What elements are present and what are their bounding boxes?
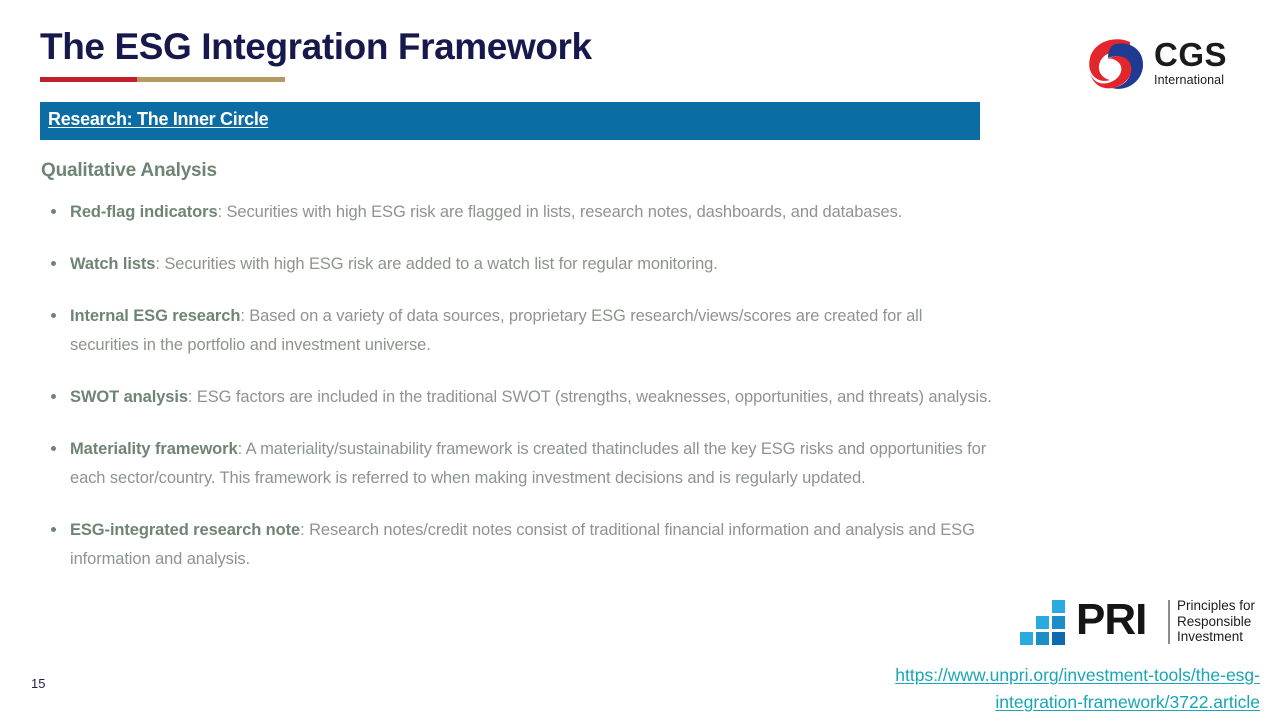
list-item-lead: ESG-integrated research note: [70, 521, 300, 539]
list-item-lead: Materiality framework: [70, 440, 238, 458]
list-item: Red-flag indicators: Securities with hig…: [44, 198, 994, 227]
bullet-marker-icon: [51, 394, 56, 399]
source-url-line-1: https://www.unpri.org/investment-tools/t…: [895, 665, 1260, 685]
list-item-body: : ESG factors are included in the tradit…: [188, 388, 992, 406]
list-item-lead: Watch lists: [70, 255, 155, 273]
list-item: SWOT analysis: ESG factors are included …: [44, 383, 994, 412]
cgs-logo: CGS International: [1086, 36, 1246, 98]
subheading-qualitative-analysis: Qualitative Analysis: [41, 160, 217, 182]
list-item: Materiality framework: A materiality/sus…: [44, 435, 994, 493]
bullet-marker-icon: [51, 527, 56, 532]
source-url-link[interactable]: https://www.unpri.org/investment-tools/t…: [760, 662, 1260, 716]
cgs-name: CGS: [1154, 38, 1246, 71]
page-number: 15: [31, 676, 45, 691]
list-item: ESG-integrated research note: Research n…: [44, 516, 994, 574]
source-url-line-2: integration-framework/3722.article: [995, 692, 1260, 712]
bullet-marker-icon: [51, 313, 56, 318]
pri-squares-icon: [1020, 600, 1078, 646]
list-item-lead: Red-flag indicators: [70, 203, 218, 221]
section-banner: Research: The Inner Circle: [40, 102, 980, 140]
section-banner-label: Research: The Inner Circle: [48, 109, 268, 130]
list-item-body: : Securities with high ESG risk are flag…: [218, 203, 903, 221]
bullet-list: Red-flag indicators: Securities with hig…: [44, 198, 994, 574]
list-item: Internal ESG research: Based on a variet…: [44, 302, 994, 360]
title-rule-gold: [137, 77, 285, 82]
pri-tagline-line-3: Investment: [1177, 629, 1255, 645]
pri-divider: [1168, 600, 1170, 644]
bullet-marker-icon: [51, 209, 56, 214]
pri-tagline: Principles for Responsible Investment: [1177, 598, 1255, 645]
title-rule-red: [40, 77, 137, 82]
page-title: The ESG Integration Framework: [40, 26, 592, 68]
pri-tagline-line-2: Responsible: [1177, 614, 1255, 630]
pri-wordmark: PRI: [1076, 594, 1146, 646]
pri-logo: PRI Principles for Responsible Investmen…: [1020, 598, 1270, 650]
cgs-swoosh-icon: [1086, 38, 1148, 92]
cgs-subtitle: International: [1154, 73, 1246, 87]
bullet-marker-icon: [51, 261, 56, 266]
list-item-body: : Securities with high ESG risk are adde…: [155, 255, 717, 273]
list-item-lead: Internal ESG research: [70, 307, 240, 325]
bullet-marker-icon: [51, 446, 56, 451]
list-item-lead: SWOT analysis: [70, 388, 188, 406]
list-item: Watch lists: Securities with high ESG ri…: [44, 250, 994, 279]
cgs-wordmark: CGS International: [1154, 38, 1246, 87]
pri-tagline-line-1: Principles for: [1177, 598, 1255, 614]
